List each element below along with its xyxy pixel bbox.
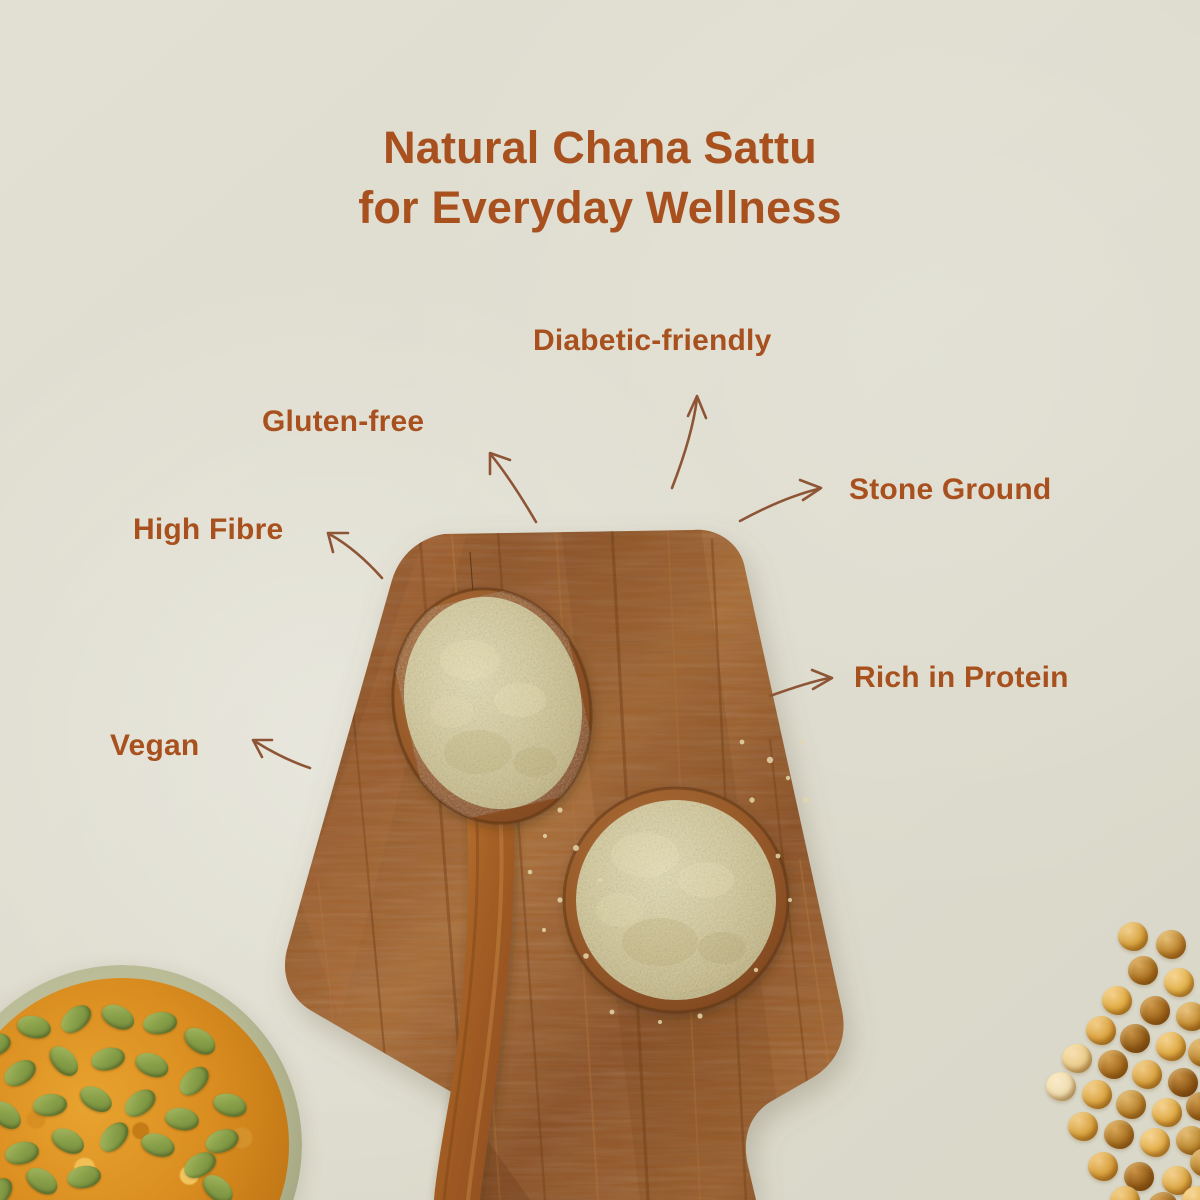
board-wood-grain <box>260 510 880 1200</box>
product-infographic: Natural Chana Sattu for Everyday Wellnes… <box>0 0 1200 1200</box>
roasted-chana-cluster <box>1006 920 1200 1200</box>
feature-label-diabetic-friendly: Diabetic-friendly <box>533 324 771 358</box>
feature-label-rich-in-protein: Rich in Protein <box>854 661 1069 695</box>
bowl-sattu-powder <box>576 800 776 1000</box>
feature-label-gluten-free: Gluten-free <box>262 405 424 439</box>
feature-label-high-fibre: High Fibre <box>133 513 283 547</box>
feature-label-vegan: Vegan <box>110 729 199 763</box>
feature-label-stone-ground: Stone Ground <box>849 473 1051 507</box>
page-title: Natural Chana Sattu for Everyday Wellnes… <box>0 118 1200 238</box>
